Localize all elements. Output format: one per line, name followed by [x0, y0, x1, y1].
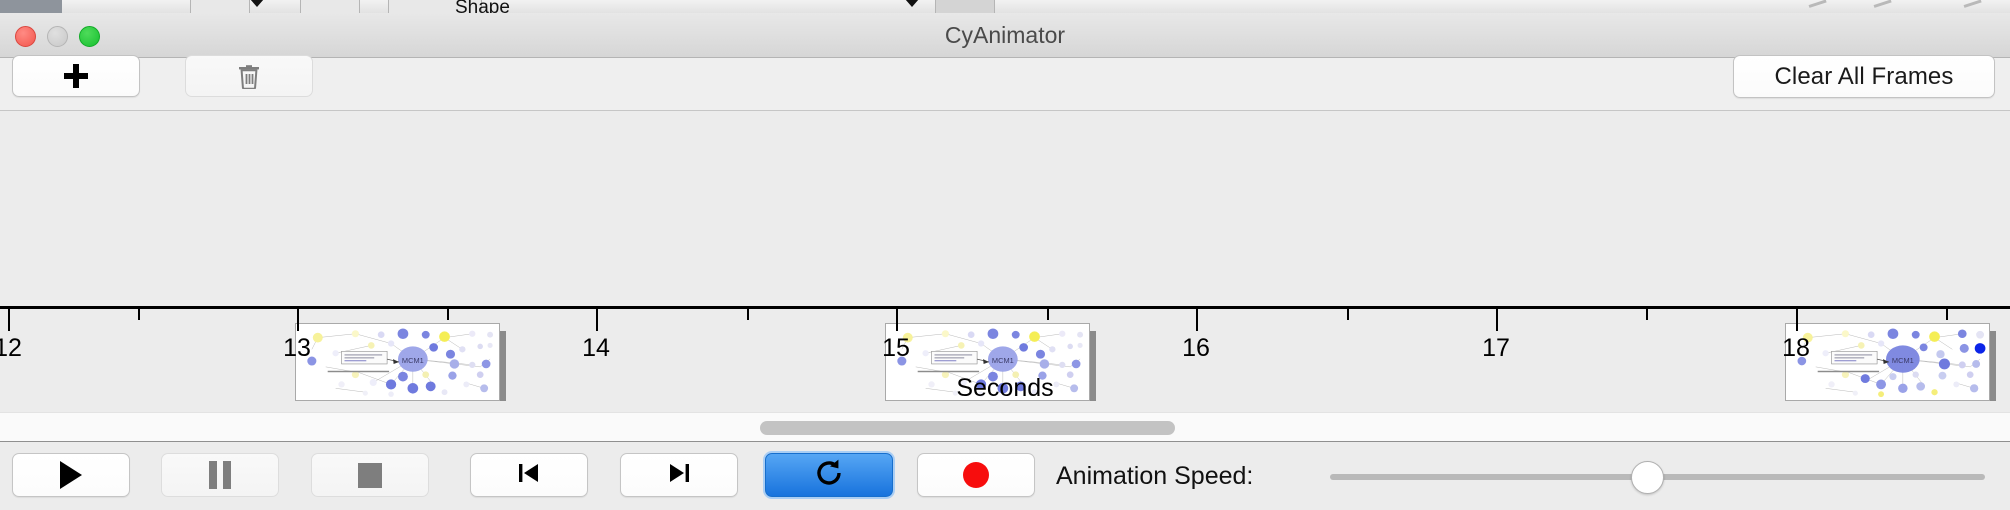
loop-icon — [813, 457, 845, 494]
animation-speed-label: Animation Speed: — [1056, 443, 1253, 510]
axis-tick-major — [896, 309, 898, 331]
axis-tick-major — [596, 309, 598, 331]
axis-tick-label: 15 — [882, 334, 910, 363]
skip-back-icon — [516, 460, 542, 491]
background-window-tab — [300, 0, 360, 13]
axis-tick-minor — [1347, 309, 1349, 320]
axis-tick-minor — [747, 309, 749, 320]
loop-button[interactable] — [765, 453, 893, 497]
axis-tick-major — [1796, 309, 1798, 331]
axis-tick-minor — [138, 309, 140, 320]
play-button[interactable] — [12, 453, 130, 497]
play-icon — [60, 461, 82, 489]
background-window-label: Shape — [455, 0, 510, 14]
background-window-tab — [935, 0, 995, 13]
background-window-decoration — [1874, 0, 1895, 14]
timeline-axis: 12 13 14 15 16 17 18 Seconds — [0, 306, 2010, 401]
stop-button[interactable] — [311, 453, 429, 497]
axis-tick-major — [1196, 309, 1198, 331]
pause-button[interactable] — [161, 453, 279, 497]
maximize-button[interactable] — [79, 26, 100, 47]
page-title: CyAnimator — [0, 13, 2010, 58]
close-button[interactable] — [15, 26, 36, 47]
background-window-tab — [190, 0, 250, 13]
axis-tick-minor — [447, 309, 449, 320]
next-frame-button[interactable] — [620, 453, 738, 497]
minimize-button[interactable] — [47, 26, 68, 47]
axis-tick-label: 14 — [582, 334, 610, 363]
skip-forward-icon — [666, 460, 692, 491]
axis-tick-minor — [1646, 309, 1648, 320]
stop-icon — [358, 463, 382, 488]
background-caret-icon — [250, 0, 264, 7]
delete-frame-button[interactable] — [185, 55, 313, 97]
axis-tick-label: 13 — [283, 334, 311, 363]
background-window-decoration — [1809, 0, 1830, 14]
scrollbar-thumb[interactable] — [760, 421, 1175, 435]
playback-toolbar: Animation Speed: — [0, 443, 2010, 510]
clear-all-frames-button[interactable]: Clear All Frames — [1733, 55, 1995, 98]
axis-tick-major — [297, 309, 299, 331]
pause-icon — [209, 461, 231, 489]
trash-icon — [238, 63, 260, 89]
previous-frame-button[interactable] — [470, 453, 588, 497]
background-window-strip: Shape — [0, 0, 2010, 14]
axis-tick-label: 16 — [1182, 334, 1210, 363]
animation-speed-slider[interactable] — [1330, 474, 1985, 480]
timeline-horizontal-scrollbar[interactable] — [0, 412, 2010, 442]
clear-all-frames-label: Clear All Frames — [1775, 63, 1954, 91]
titlebar: CyAnimator — [0, 13, 2010, 58]
axis-tick-minor — [1946, 309, 1948, 320]
axis-tick-label: 17 — [1482, 334, 1510, 363]
axis-tick-major — [1496, 309, 1498, 331]
background-window-titlebar — [0, 0, 62, 13]
axis-tick-major — [8, 309, 10, 331]
axis-tick-label: 18 — [1782, 334, 1810, 363]
axis-rule — [0, 306, 2010, 309]
cyanimator-window: Shape CyAnimator Clear Al — [0, 0, 2010, 510]
add-frame-button[interactable] — [12, 55, 140, 97]
background-window-decoration — [1964, 0, 1985, 14]
animation-speed-slider-thumb[interactable] — [1631, 461, 1664, 494]
record-button[interactable] — [917, 453, 1035, 497]
axis-tick-minor — [1047, 309, 1049, 320]
record-icon — [963, 462, 989, 488]
axis-tick-label: 12 — [0, 334, 22, 363]
axis-title: Seconds — [0, 374, 2010, 403]
traffic-lights — [15, 26, 100, 47]
plus-icon — [64, 64, 88, 88]
background-caret-icon — [905, 0, 919, 7]
